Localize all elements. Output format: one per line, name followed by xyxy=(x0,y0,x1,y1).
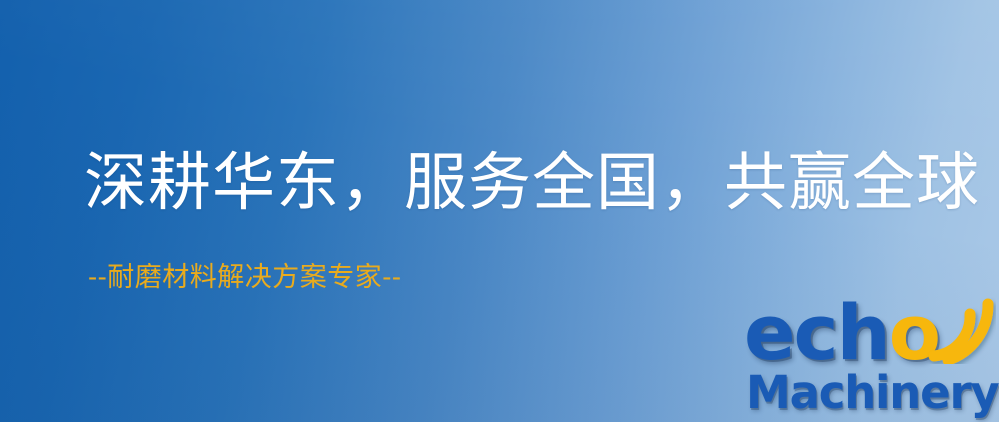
logo-text-machinery: Machinery xyxy=(746,370,999,415)
promotional-banner: 深耕华东，服务全国，共赢全球 --耐磨材料解决方案专家-- ech o Mach xyxy=(0,0,999,422)
banner-headline: 深耕华东，服务全国，共赢全球 xyxy=(84,151,980,214)
logo-wordmark: ech o xyxy=(744,296,940,372)
logo-text-ech: ech xyxy=(744,296,889,370)
company-logo[interactable]: ech o Machinery ® xyxy=(744,296,996,422)
echo-wave-icon xyxy=(926,292,996,364)
banner-subtitle: --耐磨材料解决方案专家-- xyxy=(88,264,402,291)
logo-tagline: Machinery ® xyxy=(746,370,999,415)
